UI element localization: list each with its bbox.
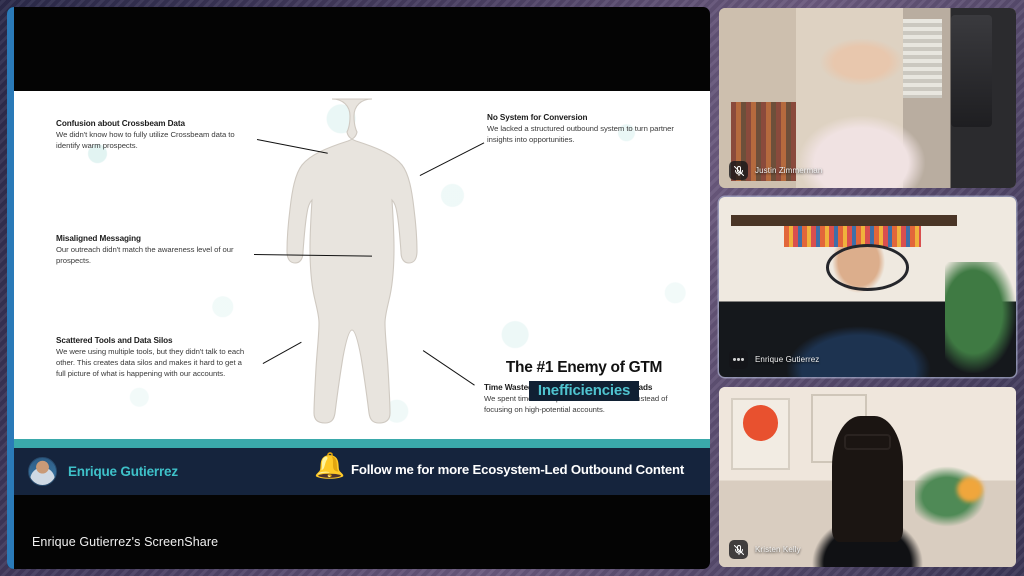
banner-accent-bar (14, 439, 710, 448)
presenter-avatar (28, 457, 57, 486)
slide-headline: The #1 Enemy of GTM Inefficiencies (469, 359, 699, 401)
participant-tile-kristen-kelly[interactable]: Kristen Kelly (719, 387, 1016, 567)
annotation-confusion-about-crossbeam-data: Confusion about Crossbeam Data We didn't… (56, 119, 252, 152)
presentation-slide: Confusion about Crossbeam Data We didn't… (14, 91, 710, 439)
annotation-body: We lacked a structured outbound system t… (487, 124, 677, 146)
participant-badge: Justin Zimmerman (729, 161, 822, 180)
participant-name-label: Kristen Kelly (755, 545, 801, 554)
annotation-misaligned-messaging: Misaligned Messaging Our outreach didn't… (56, 234, 252, 267)
follow-call-to-action-text: Follow me for more Ecosystem-Led Outboun… (351, 462, 684, 477)
mic-muted-icon[interactable] (729, 540, 748, 559)
screenshare-caption: Enrique Gutierrez's ScreenShare (32, 535, 218, 549)
annotation-title: Misaligned Messaging (56, 234, 252, 243)
presenter-brand-banner: Enrique Gutierrez 🔔 Follow me for more E… (14, 448, 710, 495)
screenshare-stage[interactable]: Confusion about Crossbeam Data We didn't… (7, 7, 710, 569)
annotation-body: We were using multiple tools, but they d… (56, 347, 252, 380)
bell-icon: 🔔 (314, 454, 345, 479)
participant-tile-enrique-gutierrez[interactable]: Enrique Gutierrez (719, 197, 1016, 377)
annotation-title: No System for Conversion (487, 113, 677, 122)
annotation-no-system-for-conversion: No System for Conversion We lacked a str… (487, 113, 677, 146)
annotation-body: We didn't know how to fully utilize Cros… (56, 130, 252, 152)
presenter-name-label: Enrique Gutierrez (68, 464, 178, 479)
participant-name-label: Enrique Gutierrez (755, 355, 819, 364)
participant-name-label: Justin Zimmerman (755, 166, 822, 175)
headline-highlight-badge: Inefficiencies (529, 381, 639, 401)
annotation-scattered-tools-and-data-silos: Scattered Tools and Data Silos We were u… (56, 336, 252, 380)
annotation-body: Our outreach didn't match the awareness … (56, 245, 252, 267)
painpoint-shoulder-right (399, 148, 456, 205)
participant-badge: Kristen Kelly (729, 540, 801, 559)
slide-left-accent-rail (7, 7, 14, 569)
participant-badge: Enrique Gutierrez (729, 350, 819, 369)
annotation-title: Confusion about Crossbeam Data (56, 119, 252, 128)
annotation-title: Scattered Tools and Data Silos (56, 336, 252, 345)
more-options-icon[interactable] (729, 350, 748, 369)
painpoint-abdomen (343, 225, 400, 282)
mic-muted-icon[interactable] (729, 161, 748, 180)
headline-primary-text: The #1 Enemy of GTM (469, 359, 699, 377)
participant-tile-justin-zimmerman[interactable]: Justin Zimmerman (719, 8, 1016, 188)
painpoint-hip-left (272, 319, 326, 373)
